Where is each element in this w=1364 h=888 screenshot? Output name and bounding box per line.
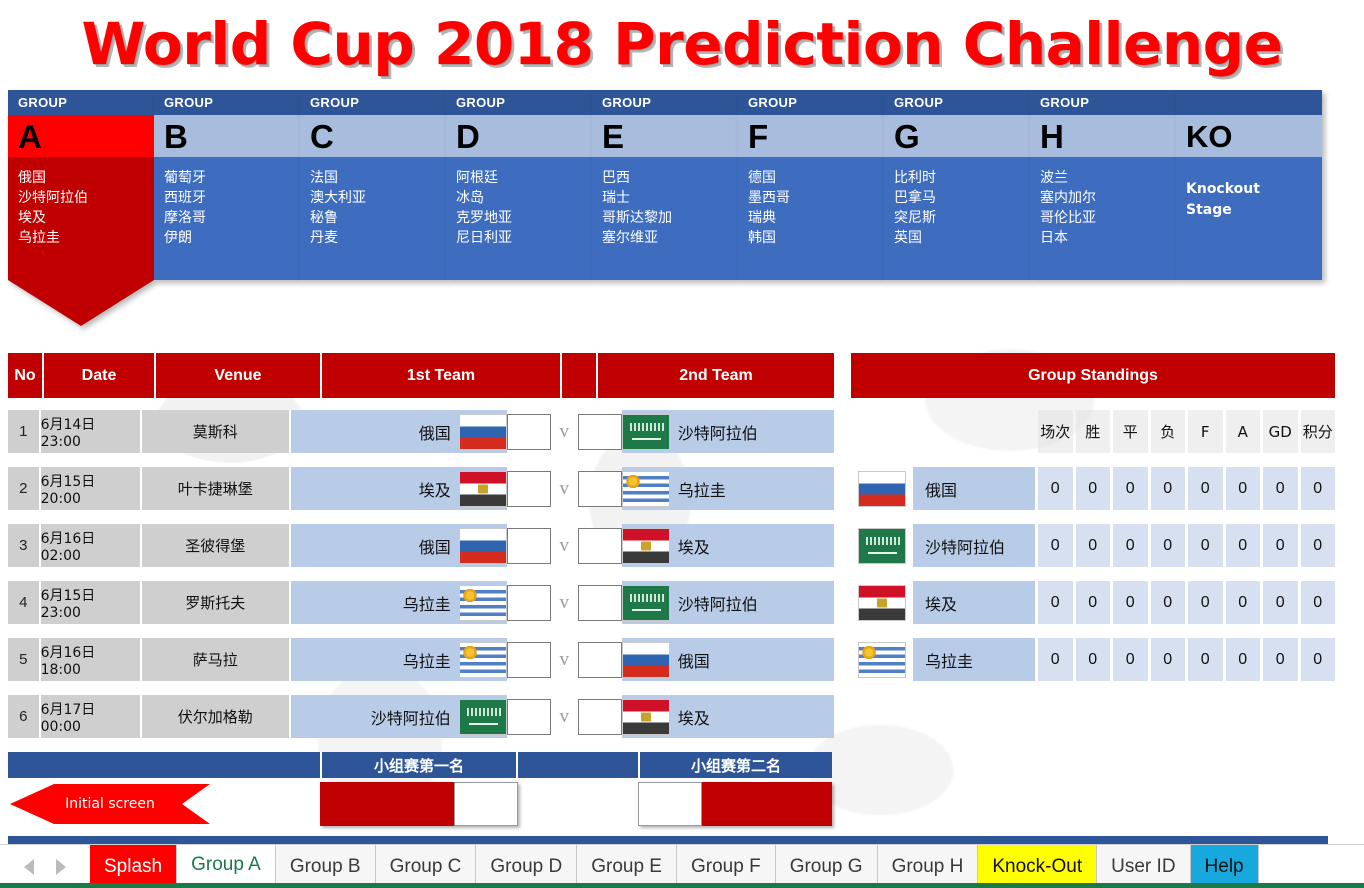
group-card-teams-d: 阿根廷冰岛克罗地亚尼日利亚 <box>446 157 592 280</box>
group-card-letter-f: F <box>738 115 884 157</box>
flag-icon-egy <box>622 528 670 564</box>
group-team-name: 摩洛哥 <box>164 209 292 229</box>
match-score1-cell <box>507 581 551 624</box>
match-score1-cell <box>507 467 551 510</box>
flag-icon-uru <box>459 642 507 678</box>
sheet-tab-group-f[interactable]: Group F <box>677 845 776 888</box>
match-team1-cell: 沙特阿拉伯 <box>291 695 507 738</box>
match-venue: 萨马拉 <box>142 638 291 681</box>
standings-col-header: 胜 <box>1076 410 1111 453</box>
group-card-head-h: GROUP <box>1030 90 1176 115</box>
group-team-name: 韩国 <box>748 229 876 249</box>
standings-stat-value: 0 <box>1038 524 1073 567</box>
standings-stat-value: 0 <box>1188 581 1223 624</box>
match-team2-name: 沙特阿拉伯 <box>670 420 758 444</box>
match-team1-cell: 乌拉圭 <box>291 581 507 624</box>
match-team1-name: 乌拉圭 <box>403 591 459 615</box>
match-no: 2 <box>8 467 41 510</box>
match-date: 6月14日 23:00 <box>41 410 142 453</box>
group-card-g[interactable]: GROUPG比利时巴拿马突尼斯英国 <box>884 90 1030 280</box>
group-card-h[interactable]: GROUPH波兰塞内加尔哥伦比亚日本 <box>1030 90 1176 280</box>
match-score1-cell <box>507 695 551 738</box>
standings-col-header: 积分 <box>1301 410 1336 453</box>
match-venue: 伏尔加格勒 <box>142 695 291 738</box>
col-header-spacer <box>562 353 598 398</box>
group-card-teams-ko: KnockoutStage <box>1176 157 1322 280</box>
group-standings-panel: Group Standings 场次胜平负FAGD积分 俄国00000000沙特… <box>851 353 1335 681</box>
score-input-team1[interactable] <box>507 528 551 564</box>
group-team-name: 巴拿马 <box>894 189 1022 209</box>
group-card-head-f: GROUP <box>738 90 884 115</box>
group-team-name: 葡萄牙 <box>164 169 292 189</box>
sheet-tab-group-e[interactable]: Group E <box>577 845 677 888</box>
score-input-team2[interactable] <box>578 414 622 450</box>
group-team-name: 冰岛 <box>456 189 584 209</box>
col-header-venue: Venue <box>156 353 322 398</box>
match-score2-cell <box>578 695 622 738</box>
score-input-team1[interactable] <box>507 642 551 678</box>
group-team-name: 丹麦 <box>310 229 438 249</box>
initial-screen-button[interactable]: Initial screen <box>10 784 210 824</box>
group-team-name: 沙特阿拉伯 <box>18 189 146 209</box>
group-card-d[interactable]: GROUPD阿根廷冰岛克罗地亚尼日利亚 <box>446 90 592 280</box>
standings-stat-value: 0 <box>1076 524 1111 567</box>
standings-row: 乌拉圭00000000 <box>851 638 1335 681</box>
sheet-nav-arrows[interactable] <box>0 845 90 888</box>
group-team-name: 墨西哥 <box>748 189 876 209</box>
match-team2-name: 乌拉圭 <box>670 477 726 501</box>
match-team1-name: 沙特阿拉伯 <box>371 705 459 729</box>
group-team-name: 日本 <box>1040 229 1168 249</box>
group-team-name: 瑞士 <box>602 189 730 209</box>
col-header-team2: 2nd Team <box>598 353 834 398</box>
group-card-letter-e: E <box>592 115 738 157</box>
match-team2-name: 俄国 <box>670 648 710 672</box>
sheet-tab-group-h[interactable]: Group H <box>878 845 979 888</box>
group-card-head-a: GROUP <box>8 90 154 115</box>
group-team-name: 比利时 <box>894 169 1022 189</box>
match-team1-cell: 俄国 <box>291 410 507 453</box>
qualifier-header-mid-spacer <box>518 752 638 778</box>
flag-icon-ksa <box>622 414 670 450</box>
match-no: 3 <box>8 524 41 567</box>
flag-icon-rus <box>858 471 906 507</box>
standings-stat-value: 0 <box>1151 467 1186 510</box>
sheet-tab-group-g[interactable]: Group G <box>776 845 878 888</box>
group-card-letter-a: A <box>8 115 154 157</box>
group-card-letter-h: H <box>1030 115 1176 157</box>
versus-label: v <box>551 467 578 510</box>
match-row: 26月15日 20:00叶卡捷琳堡埃及v乌拉圭 <box>8 467 834 510</box>
match-date: 6月16日 02:00 <box>41 524 142 567</box>
standings-stat-value: 0 <box>1301 467 1336 510</box>
standings-body: 俄国00000000沙特阿拉伯00000000埃及00000000乌拉圭0000… <box>851 467 1335 681</box>
sheet-tabs: SplashGroup AGroup BGroup CGroup DGroup … <box>90 845 1364 888</box>
standings-col-header: F <box>1188 410 1223 453</box>
match-team2-name: 沙特阿拉伯 <box>670 591 758 615</box>
group-card-teams-g: 比利时巴拿马突尼斯英国 <box>884 157 1030 280</box>
match-row: 56月16日 18:00萨马拉乌拉圭v俄国 <box>8 638 834 681</box>
standings-stat-value: 0 <box>1113 524 1148 567</box>
group-team-name: 西班牙 <box>164 189 292 209</box>
standings-stat-value: 0 <box>1113 638 1148 681</box>
sheet-tab-bar: SplashGroup AGroup BGroup CGroup DGroup … <box>0 844 1364 888</box>
score-input-team2[interactable] <box>578 699 622 735</box>
group-card-teams-c: 法国澳大利亚秘鲁丹麦 <box>300 157 446 280</box>
match-no: 1 <box>8 410 41 453</box>
group-card-ko[interactable]: KOKnockoutStage <box>1176 90 1322 280</box>
standings-row: 沙特阿拉伯00000000 <box>851 524 1335 567</box>
standings-stat-value: 0 <box>1113 467 1148 510</box>
group-card-letter-c: C <box>300 115 446 157</box>
group-card-head-g: GROUP <box>884 90 1030 115</box>
second-place-label: 小组赛第二名 <box>638 752 832 778</box>
group-card-e[interactable]: GROUPE巴西瑞士哥斯达黎加塞尔维亚 <box>592 90 738 280</box>
standings-stat-value: 0 <box>1038 467 1073 510</box>
group-card-letter-b: B <box>154 115 300 157</box>
standings-team-name: 沙特阿拉伯 <box>913 524 1035 567</box>
versus-label: v <box>551 695 578 738</box>
standings-stat-value: 0 <box>1113 581 1148 624</box>
sheet-tab-group-a[interactable]: Group A <box>177 845 276 888</box>
flag-icon-ksa <box>622 585 670 621</box>
match-team2-name: 埃及 <box>670 534 710 558</box>
active-group-pennant <box>8 280 154 326</box>
match-score1-cell <box>507 638 551 681</box>
group-card-head-c: GROUP <box>300 90 446 115</box>
page-title-bar: World Cup 2018 Prediction Challenge <box>0 0 1364 88</box>
sheet-tab-group-d[interactable]: Group D <box>476 845 577 888</box>
group-card-f[interactable]: GROUPF德国墨西哥瑞典韩国 <box>738 90 884 280</box>
match-team2-cell: 沙特阿拉伯 <box>622 581 834 624</box>
standings-stat-value: 0 <box>1188 638 1223 681</box>
standings-stat-value: 0 <box>1226 581 1261 624</box>
group-team-name: 澳大利亚 <box>310 189 438 209</box>
group-card-teams-e: 巴西瑞士哥斯达黎加塞尔维亚 <box>592 157 738 280</box>
group-team-name: 哥斯达黎加 <box>602 209 730 229</box>
group-team-name: 伊朗 <box>164 229 292 249</box>
flag-icon-rus <box>459 414 507 450</box>
match-team2-name: 埃及 <box>670 705 710 729</box>
group-card-letter-g: G <box>884 115 1030 157</box>
match-no: 5 <box>8 638 41 681</box>
tab-bar-accent-line <box>0 883 1364 888</box>
match-score1-cell <box>507 524 551 567</box>
score-input-team1[interactable] <box>507 471 551 507</box>
group-team-name: 尼日利亚 <box>456 229 584 249</box>
match-team2-cell: 埃及 <box>622 524 834 567</box>
group-card-head-b: GROUP <box>154 90 300 115</box>
nav-next-icon[interactable] <box>56 859 66 875</box>
standings-stat-value: 0 <box>1301 524 1336 567</box>
score-input-team1[interactable] <box>507 414 551 450</box>
standings-flag-cell <box>851 467 913 510</box>
match-date: 6月16日 18:00 <box>41 638 142 681</box>
match-score2-cell <box>578 524 622 567</box>
match-venue: 圣彼得堡 <box>142 524 291 567</box>
group-team-name: 瑞典 <box>748 209 876 229</box>
score-input-team2[interactable] <box>578 585 622 621</box>
match-score2-cell <box>578 581 622 624</box>
match-team2-cell: 埃及 <box>622 695 834 738</box>
standings-header-spacer <box>851 410 1035 453</box>
group-card-teams-a: 俄国沙特阿拉伯埃及乌拉圭 <box>8 157 154 280</box>
match-score2-cell <box>578 467 622 510</box>
standings-stat-value: 0 <box>1226 524 1261 567</box>
standings-row: 俄国00000000 <box>851 467 1335 510</box>
standings-stat-value: 0 <box>1263 638 1298 681</box>
standings-col-header: 负 <box>1151 410 1186 453</box>
standings-stat-value: 0 <box>1151 581 1186 624</box>
score-input-team2[interactable] <box>578 642 622 678</box>
second-place-name <box>702 782 832 826</box>
match-date: 6月15日 20:00 <box>41 467 142 510</box>
match-no: 6 <box>8 695 41 738</box>
match-no: 4 <box>8 581 41 624</box>
match-team1-name: 俄国 <box>419 420 459 444</box>
group-team-name: 克罗地亚 <box>456 209 584 229</box>
standings-col-header: A <box>1226 410 1261 453</box>
sheet-tab-group-c[interactable]: Group C <box>376 845 477 888</box>
match-venue: 叶卡捷琳堡 <box>142 467 291 510</box>
flag-icon-egy <box>459 471 507 507</box>
match-score2-cell <box>578 638 622 681</box>
group-card-letter-d: D <box>446 115 592 157</box>
match-team1-cell: 乌拉圭 <box>291 638 507 681</box>
standings-team-name: 俄国 <box>913 467 1035 510</box>
match-score1-cell <box>507 410 551 453</box>
standings-stat-value: 0 <box>1263 467 1298 510</box>
match-venue: 罗斯托夫 <box>142 581 291 624</box>
match-score2-cell <box>578 410 622 453</box>
standings-stat-value: 0 <box>1301 581 1336 624</box>
col-header-date: Date <box>44 353 156 398</box>
col-header-team1: 1st Team <box>322 353 562 398</box>
match-team1-name: 乌拉圭 <box>403 648 459 672</box>
group-team-name: 德国 <box>748 169 876 189</box>
group-team-name: 哥伦比亚 <box>1040 209 1168 229</box>
group-team-name: Knockout <box>1186 179 1314 200</box>
match-table-header: No Date Venue 1st Team 2nd Team <box>8 353 834 398</box>
first-place-box[interactable] <box>320 782 518 826</box>
standings-stat-value: 0 <box>1263 581 1298 624</box>
group-card-teams-b: 葡萄牙西班牙摩洛哥伊朗 <box>154 157 300 280</box>
group-team-name: 秘鲁 <box>310 209 438 229</box>
first-place-input[interactable] <box>454 782 518 826</box>
standings-team-name: 埃及 <box>913 581 1035 624</box>
score-input-team2[interactable] <box>578 528 622 564</box>
flag-icon-rus <box>459 528 507 564</box>
sheet-tab-group-b[interactable]: Group B <box>276 845 376 888</box>
group-team-name: 突尼斯 <box>894 209 1022 229</box>
standings-flag-cell <box>851 524 913 567</box>
group-team-name: 巴西 <box>602 169 730 189</box>
group-card-strip: GROUPA俄国沙特阿拉伯埃及乌拉圭GROUPB葡萄牙西班牙摩洛哥伊朗GROUP… <box>8 90 1328 298</box>
standings-row: 埃及00000000 <box>851 581 1335 624</box>
qualifier-header-left-spacer <box>8 752 320 778</box>
match-team1-cell: 俄国 <box>291 524 507 567</box>
bottom-blue-frame <box>8 836 1328 844</box>
initial-screen-cell: Initial screen <box>8 784 320 824</box>
standings-stat-value: 0 <box>1188 524 1223 567</box>
standings-stat-value: 0 <box>1226 467 1261 510</box>
group-team-name: 塞内加尔 <box>1040 189 1168 209</box>
standings-stat-value: 0 <box>1076 638 1111 681</box>
standings-stat-value: 0 <box>1151 524 1186 567</box>
flag-icon-ksa <box>858 528 906 564</box>
match-team1-name: 埃及 <box>419 477 459 501</box>
standings-stat-value: 0 <box>1151 638 1186 681</box>
match-venue: 莫斯科 <box>142 410 291 453</box>
group-card-head-ko <box>1176 90 1322 115</box>
second-place-input[interactable] <box>638 782 702 826</box>
group-team-name: 俄国 <box>18 169 146 189</box>
standings-stat-value: 0 <box>1188 467 1223 510</box>
group-card-letter-ko: KO <box>1176 115 1322 157</box>
standings-stat-value: 0 <box>1301 638 1336 681</box>
flag-icon-egy <box>622 699 670 735</box>
score-input-team1[interactable] <box>507 699 551 735</box>
standings-stat-value: 0 <box>1076 581 1111 624</box>
standings-col-header: 场次 <box>1038 410 1073 453</box>
match-team2-cell: 俄国 <box>622 638 834 681</box>
first-place-name <box>320 782 454 826</box>
group-card-teams-f: 德国墨西哥瑞典韩国 <box>738 157 884 280</box>
group-team-name: 英国 <box>894 229 1022 249</box>
match-row: 36月16日 02:00圣彼得堡俄国v埃及 <box>8 524 834 567</box>
flag-icon-uru <box>622 471 670 507</box>
qualifier-bar: 小组赛第一名 小组赛第二名 Initial screen <box>8 752 834 830</box>
standings-stat-value: 0 <box>1263 524 1298 567</box>
standings-flag-cell <box>851 638 913 681</box>
match-team2-cell: 沙特阿拉伯 <box>622 410 834 453</box>
group-card-b[interactable]: GROUPB葡萄牙西班牙摩洛哥伊朗 <box>154 90 300 280</box>
qualifier-header-row: 小组赛第一名 小组赛第二名 <box>8 752 834 778</box>
nav-previous-icon[interactable] <box>24 859 34 875</box>
match-team1-cell: 埃及 <box>291 467 507 510</box>
standings-title: Group Standings <box>851 353 1335 398</box>
versus-label: v <box>551 524 578 567</box>
match-date: 6月15日 23:00 <box>41 581 142 624</box>
group-card-teams-h: 波兰塞内加尔哥伦比亚日本 <box>1030 157 1176 280</box>
group-card-head-e: GROUP <box>592 90 738 115</box>
page-title: World Cup 2018 Prediction Challenge <box>81 10 1282 78</box>
versus-label: v <box>551 410 578 453</box>
flag-icon-ksa <box>459 699 507 735</box>
match-table-body: 16月14日 23:00莫斯科俄国v沙特阿拉伯26月15日 20:00叶卡捷琳堡… <box>8 410 834 738</box>
first-place-label: 小组赛第一名 <box>320 752 518 778</box>
sheet-tab-user-id[interactable]: User ID <box>1097 845 1190 888</box>
group-card-a[interactable]: GROUPA俄国沙特阿拉伯埃及乌拉圭 <box>8 90 154 326</box>
standings-col-header: GD <box>1263 410 1298 453</box>
versus-label: v <box>551 638 578 681</box>
col-header-no: No <box>8 353 44 398</box>
standings-col-header: 平 <box>1113 410 1148 453</box>
group-team-name: 塞尔维亚 <box>602 229 730 249</box>
group-card-head-d: GROUP <box>446 90 592 115</box>
standings-stat-value: 0 <box>1226 638 1261 681</box>
match-date: 6月17日 00:00 <box>41 695 142 738</box>
match-schedule-panel: No Date Venue 1st Team 2nd Team 16月14日 2… <box>8 353 834 738</box>
sheet-tab-help[interactable]: Help <box>1191 845 1259 888</box>
versus-label: v <box>551 581 578 624</box>
standings-stat-value: 0 <box>1038 581 1073 624</box>
flag-icon-uru <box>459 585 507 621</box>
flag-icon-uru <box>858 642 906 678</box>
flag-icon-egy <box>858 585 906 621</box>
group-team-name: 波兰 <box>1040 169 1168 189</box>
group-team-name: 乌拉圭 <box>18 229 146 249</box>
standings-column-header-row: 场次胜平负FAGD积分 <box>851 410 1335 453</box>
group-team-name: Stage <box>1186 200 1314 221</box>
group-team-name: 法国 <box>310 169 438 189</box>
group-team-name: 阿根廷 <box>456 169 584 189</box>
standings-team-name: 乌拉圭 <box>913 638 1035 681</box>
flag-icon-rus <box>622 642 670 678</box>
standings-stat-value: 0 <box>1076 467 1111 510</box>
match-team2-cell: 乌拉圭 <box>622 467 834 510</box>
qualifier-body-row: Initial screen <box>8 778 834 830</box>
standings-flag-cell <box>851 581 913 624</box>
match-row: 66月17日 00:00伏尔加格勒沙特阿拉伯v埃及 <box>8 695 834 738</box>
sheet-tab-knock-out[interactable]: Knock-Out <box>978 845 1097 888</box>
standings-stat-value: 0 <box>1038 638 1073 681</box>
group-card-c[interactable]: GROUPC法国澳大利亚秘鲁丹麦 <box>300 90 446 280</box>
second-place-box[interactable] <box>638 782 832 826</box>
sheet-tab-splash[interactable]: Splash <box>90 845 177 888</box>
match-row: 46月15日 23:00罗斯托夫乌拉圭v沙特阿拉伯 <box>8 581 834 624</box>
match-team1-name: 俄国 <box>419 534 459 558</box>
score-input-team1[interactable] <box>507 585 551 621</box>
match-row: 16月14日 23:00莫斯科俄国v沙特阿拉伯 <box>8 410 834 453</box>
score-input-team2[interactable] <box>578 471 622 507</box>
group-team-name: 埃及 <box>18 209 146 229</box>
